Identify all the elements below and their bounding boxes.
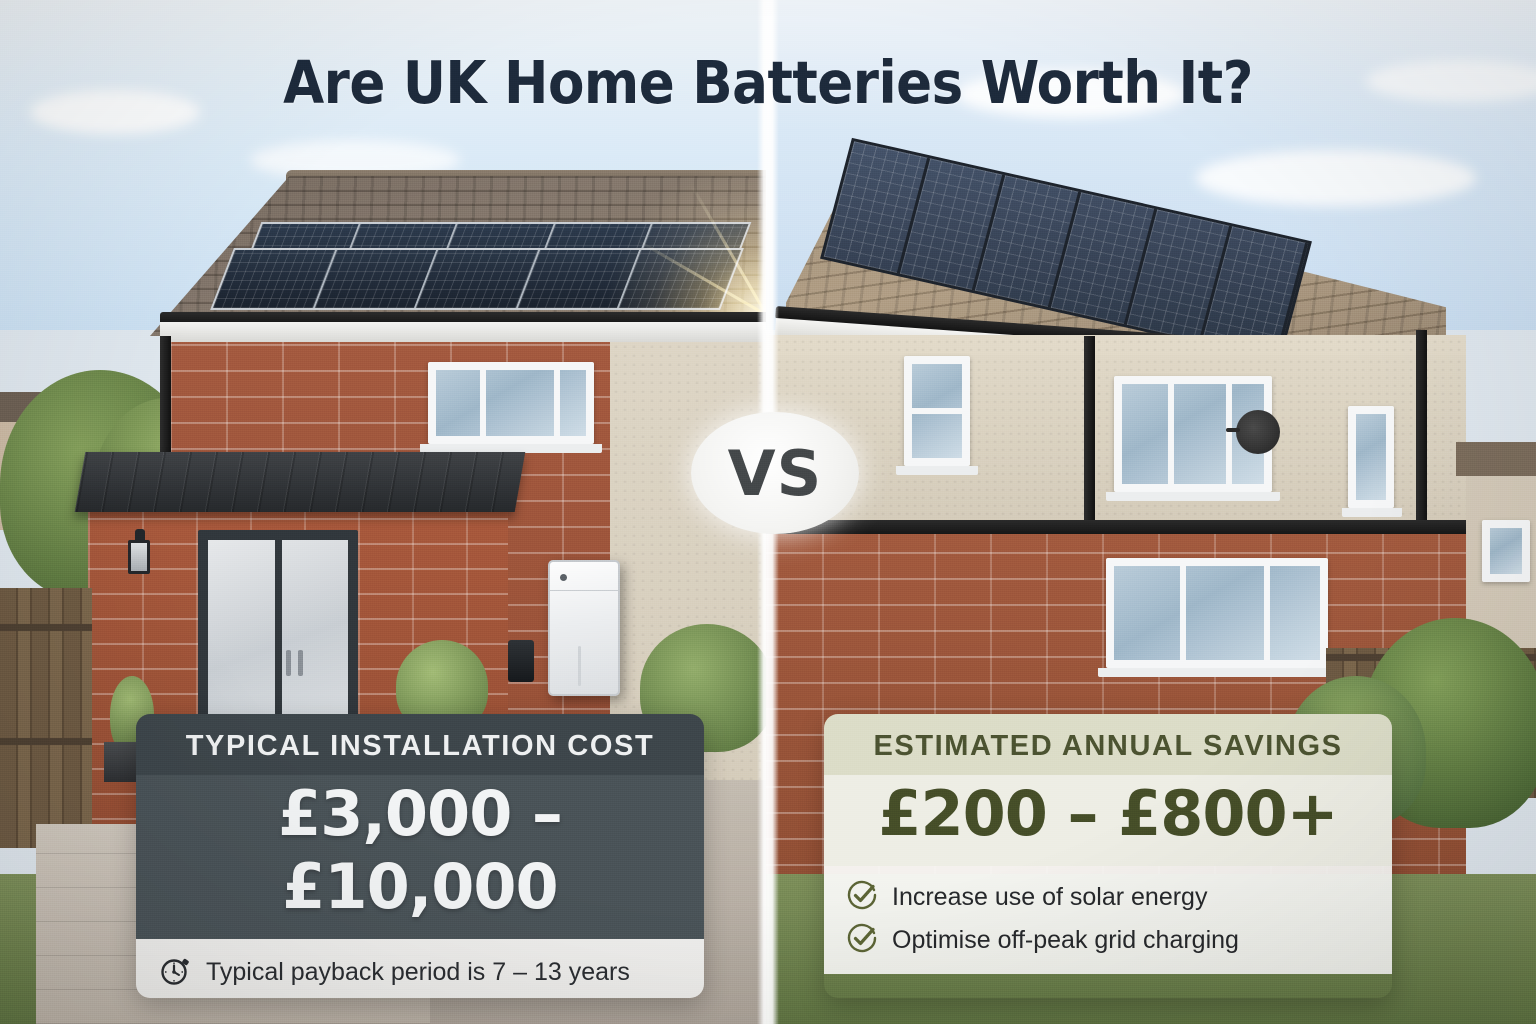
left-fascia: [160, 322, 770, 342]
payback-note-row: Typical payback period is 7 – 13 years: [158, 949, 682, 998]
check-circle-icon: [846, 922, 878, 959]
downpipe: [1416, 330, 1427, 540]
payback-note-label: Typical payback period is 7 – 13 years: [206, 958, 630, 987]
page-title: Are UK Home Batteries Worth It?: [0, 48, 1536, 117]
vs-badge-label: VS: [728, 437, 823, 510]
window-sill: [896, 466, 978, 475]
porch-roof: [75, 452, 526, 512]
stopwatch-icon: [158, 953, 192, 992]
downpipe: [1084, 336, 1095, 536]
door-handle: [286, 650, 291, 676]
cost-card-value-band: £3,000 – £10,000: [136, 775, 704, 939]
neighbour-roof: [1456, 442, 1536, 476]
window-sill: [1342, 508, 1402, 517]
cost-card-header: TYPICAL INSTALLATION COST: [136, 714, 704, 775]
cloud: [1196, 150, 1476, 206]
neighbour-window: [1482, 520, 1530, 582]
cost-card-value: £3,000 – £10,000: [136, 777, 704, 923]
window-sill: [1106, 492, 1280, 501]
satellite-dish: [1236, 410, 1280, 454]
left-solar-panel-row-bottom: [210, 248, 744, 310]
ground-floor-window: [1106, 558, 1328, 668]
check-circle-icon: [846, 879, 878, 916]
savings-card-header: ESTIMATED ANNUAL SAVINGS: [824, 714, 1392, 775]
savings-card-header-label: ESTIMATED ANNUAL SAVINGS: [824, 730, 1392, 763]
door-handle: [298, 650, 303, 676]
upper-window: [428, 362, 594, 444]
wooden-fence: [0, 588, 92, 848]
infographic-canvas: VS Are UK Home Batteries Worth It? TYPIC…: [0, 0, 1536, 1024]
installation-cost-card: TYPICAL INSTALLATION COST £3,000 – £10,0…: [136, 714, 704, 998]
upper-window-narrow: [1348, 406, 1394, 508]
benefit-row-2: Optimise off-peak grid charging: [846, 919, 1370, 962]
cost-card-body: Typical payback period is 7 – 13 years H…: [136, 939, 704, 998]
upper-window-small: [904, 356, 970, 466]
benefit-label-1: Increase use of solar energy: [892, 883, 1207, 912]
vs-badge: VS: [691, 412, 859, 534]
window-sill: [1098, 668, 1336, 677]
savings-card-body: Increase use of solar energy Optimise of…: [824, 866, 1392, 974]
inverter-box: [508, 640, 534, 682]
savings-card-value: £200 – £800+: [824, 777, 1392, 850]
home-battery-unit: [548, 560, 620, 696]
cost-card-header-label: TYPICAL INSTALLATION COST: [136, 730, 704, 763]
savings-card-value-band: £200 – £800+: [824, 775, 1392, 866]
annual-savings-card: ESTIMATED ANNUAL SAVINGS £200 – £800+ In…: [824, 714, 1392, 998]
benefit-label-2: Optimise off-peak grid charging: [892, 926, 1239, 955]
benefit-row-1: Increase use of solar energy: [846, 876, 1370, 919]
wall-lamp: [128, 540, 150, 574]
